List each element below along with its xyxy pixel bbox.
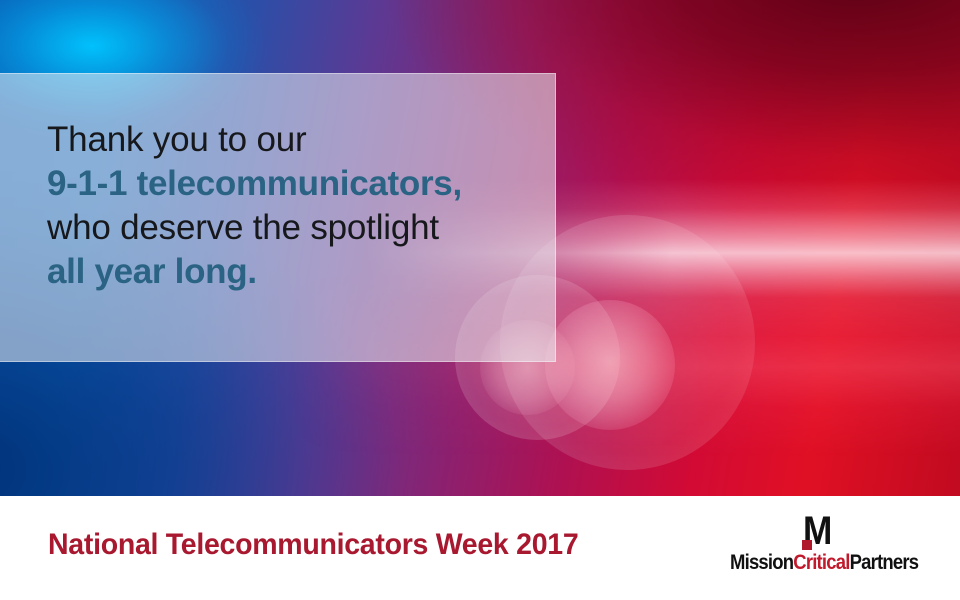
headline-line-1: Thank you to our [47,118,547,162]
logo-wordmark: MissionCriticalPartners [730,552,906,574]
headline-line-3: who deserve the spotlight [47,206,547,250]
headline-block: Thank you to our 9-1-1 telecommunicators… [47,118,547,294]
logo-red-dot-icon [802,540,812,550]
poster-canvas: Thank you to our 9-1-1 telecommunicators… [0,0,960,600]
logo-mark: M [718,512,918,550]
logo-word-partners: Partners [850,551,919,574]
banner-title: National Telecommunicators Week 2017 [48,528,578,562]
headline-line-2: 9-1-1 telecommunicators, [47,162,547,206]
logo-word-mission: Mission [730,551,793,574]
headline-line-4: all year long. [47,250,547,294]
logo-word-critical: Critical [793,551,849,574]
mission-critical-partners-logo: M MissionCriticalPartners [718,512,918,584]
